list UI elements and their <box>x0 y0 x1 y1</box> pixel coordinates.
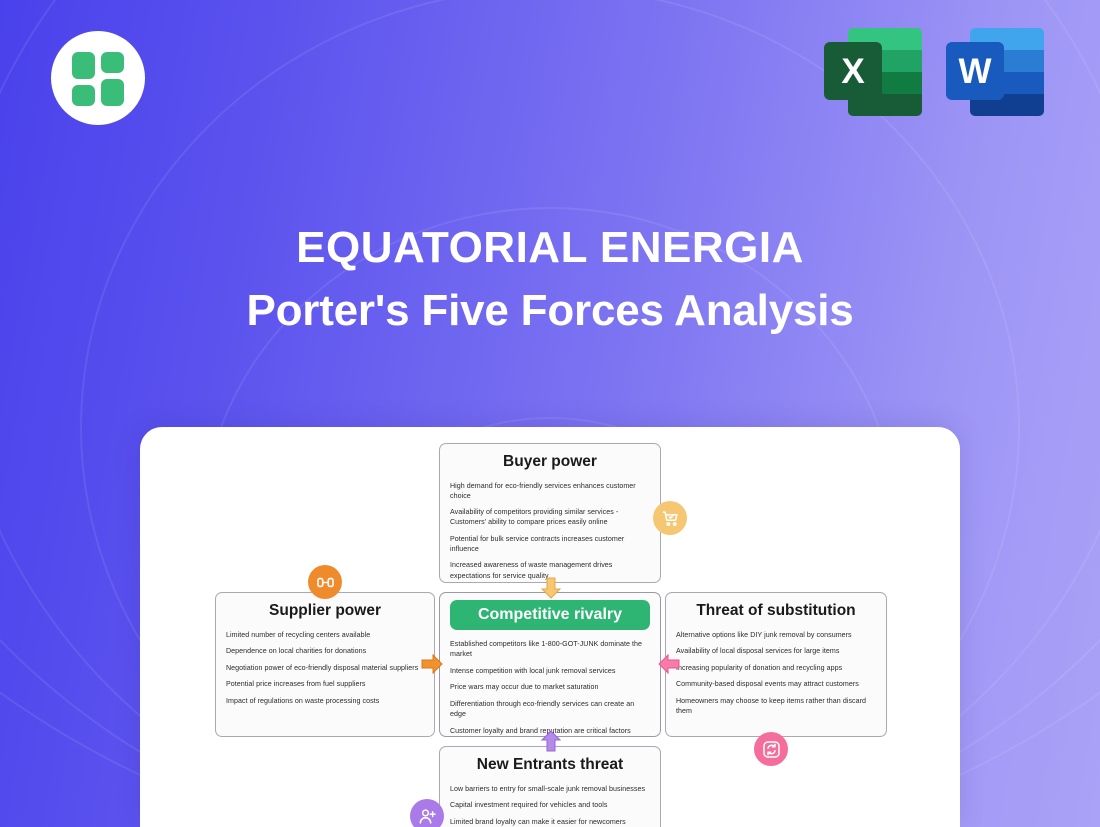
force-box-supplier-power[interactable]: Supplier power Limited number of recycli… <box>215 592 435 737</box>
force-point: High demand for eco-friendly services en… <box>450 481 650 501</box>
arrow-down-icon <box>539 576 563 600</box>
force-box-new-entrants-threat[interactable]: New Entrants threat Low barriers to entr… <box>439 746 661 827</box>
force-title-substitution: Threat of substitution <box>676 602 876 621</box>
force-point: Dependence on local charities for donati… <box>226 646 424 656</box>
force-points-substitution: Alternative options like DIY junk remova… <box>676 630 876 716</box>
force-box-buyer-power[interactable]: Buyer power High demand for eco-friendly… <box>439 443 661 583</box>
force-points-rivalry: Established competitors like 1-800-GOT-J… <box>450 639 650 735</box>
logo-block <box>101 79 124 106</box>
page-title: Porter's Five Forces Analysis <box>0 286 1100 336</box>
force-title-rivalry: Competitive rivalry <box>450 600 650 630</box>
force-point: Potential for bulk service contracts inc… <box>450 534 650 554</box>
force-title-buyer: Buyer power <box>450 453 650 472</box>
force-point: Negotiation power of eco-friendly dispos… <box>226 663 424 673</box>
force-point: Community-based disposal events may attr… <box>676 679 876 689</box>
force-point: Availability of competitors providing si… <box>450 507 650 527</box>
force-point: Capital investment required for vehicles… <box>450 800 650 810</box>
force-point: Differentiation through eco-friendly ser… <box>450 699 650 719</box>
grid-blocks-logo-icon <box>72 52 124 104</box>
force-title-supplier: Supplier power <box>226 602 424 621</box>
force-point: Limited number of recycling centers avai… <box>226 630 424 640</box>
force-box-threat-of-substitution[interactable]: Threat of substitution Alternative optio… <box>665 592 887 737</box>
porters-five-forces-diagram: Buyer power High demand for eco-friendly… <box>140 427 960 827</box>
content-panel: Buyer power High demand for eco-friendly… <box>140 427 960 827</box>
force-point: Intense competition with local junk remo… <box>450 666 650 676</box>
force-points-buyer: High demand for eco-friendly services en… <box>450 481 650 581</box>
arrow-right-icon <box>420 652 444 676</box>
add-user-icon <box>410 799 444 827</box>
arrow-left-icon <box>657 652 681 676</box>
logo-block <box>101 52 124 73</box>
force-point: Low barriers to entry for small-scale ju… <box>450 784 650 794</box>
slide-canvas: X W EQUATORIAL ENERGIA Porter's Five For… <box>0 0 1100 827</box>
force-point: Established competitors like 1-800-GOT-J… <box>450 639 650 659</box>
logo-block <box>72 85 95 106</box>
force-box-competitive-rivalry[interactable]: Competitive rivalry Established competit… <box>439 592 661 737</box>
force-point: Alternative options like DIY junk remova… <box>676 630 876 640</box>
chain-link-icon <box>308 565 342 599</box>
force-point: Price wars may occur due to market satur… <box>450 682 650 692</box>
arrow-up-icon <box>539 729 563 753</box>
force-point: Homeowners may choose to keep items rath… <box>676 696 876 716</box>
logo-block <box>72 52 95 79</box>
excel-letter: X <box>824 42 882 100</box>
brand-logo <box>51 31 145 125</box>
refresh-sync-icon <box>754 732 788 766</box>
company-name: EQUATORIAL ENERGIA <box>0 223 1100 274</box>
word-letter: W <box>946 42 1004 100</box>
force-points-new-entrants: Low barriers to entry for small-scale ju… <box>450 784 650 827</box>
force-points-supplier: Limited number of recycling centers avai… <box>226 630 424 706</box>
office-app-icons: X W <box>824 28 1044 116</box>
title-block: EQUATORIAL ENERGIA Porter's Five Forces … <box>0 223 1100 336</box>
force-point: Impact of regulations on waste processin… <box>226 696 424 706</box>
force-point: Increasing popularity of donation and re… <box>676 663 876 673</box>
force-point: Potential price increases from fuel supp… <box>226 679 424 689</box>
word-icon[interactable]: W <box>946 28 1044 116</box>
shopping-cart-icon <box>653 501 687 535</box>
force-point: Limited brand loyalty can make it easier… <box>450 817 650 827</box>
force-point: Availability of local disposal services … <box>676 646 876 656</box>
force-title-new-entrants: New Entrants threat <box>450 756 650 775</box>
excel-icon[interactable]: X <box>824 28 922 116</box>
